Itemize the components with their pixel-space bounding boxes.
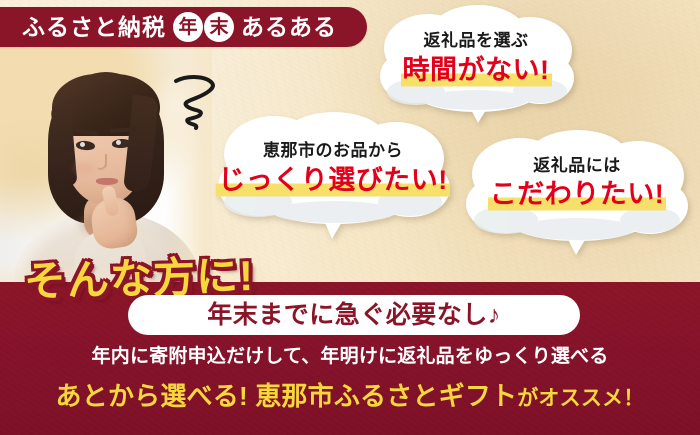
woman-cheek-blush [74,162,94,174]
footer-line-2: あとから選べる! 恵那市ふるさとギフトがオススメ！ [0,383,700,409]
footer-line-2-big: あとから選べる! 恵那市ふるさとギフト [56,381,518,411]
woman-eye-highlight-right [116,140,121,145]
kanji-circle-nen: 年 [173,12,203,42]
headline-pill-text: 年末までに急ぐ必要なし♪ [207,303,501,328]
bubble-slow-top-line: 恵那市のお品から [214,142,452,159]
headline-pill: 年末までに急ぐ必要なし♪ [128,295,580,335]
header-kanji-circles: 年 末 [173,12,234,42]
footer-line-1: 年内に寄附申込だけして、年明けに返礼品をゆっくり選べる [0,347,700,366]
bubble-time-main-line: 時間がない! [378,57,574,84]
promo-banner: ふるさと納税 年 末 あるある 恵那市のお品か [0,0,700,435]
bubble-care-main-line: こだわりたい! [464,181,690,208]
bubble-care-top-line: 返礼品には [464,157,690,174]
bubble-slow-main-line: じっくり選びたい! [214,167,452,194]
header-text-after: あるある [241,16,337,39]
bubble-time-top-line: 返礼品を選ぶ [378,32,574,49]
woman-mouth [96,178,118,185]
speech-bubble-choose-slowly: 恵那市のお品から じっくり選びたい! [214,110,452,240]
woman-eye-highlight-left [80,142,85,147]
footer-line-2-small: がオススメ！ [517,387,644,410]
kanji-circle-matsu: 末 [204,12,234,42]
speech-bubble-be-particular: 返礼品には こだわりたい! [464,128,690,256]
speech-bubble-no-time: 返礼品を選ぶ 時間がない! [378,4,574,124]
header-banner: ふるさと納税 年 末 あるある [0,7,367,47]
header-text-before: ふるさと納税 [22,16,166,39]
